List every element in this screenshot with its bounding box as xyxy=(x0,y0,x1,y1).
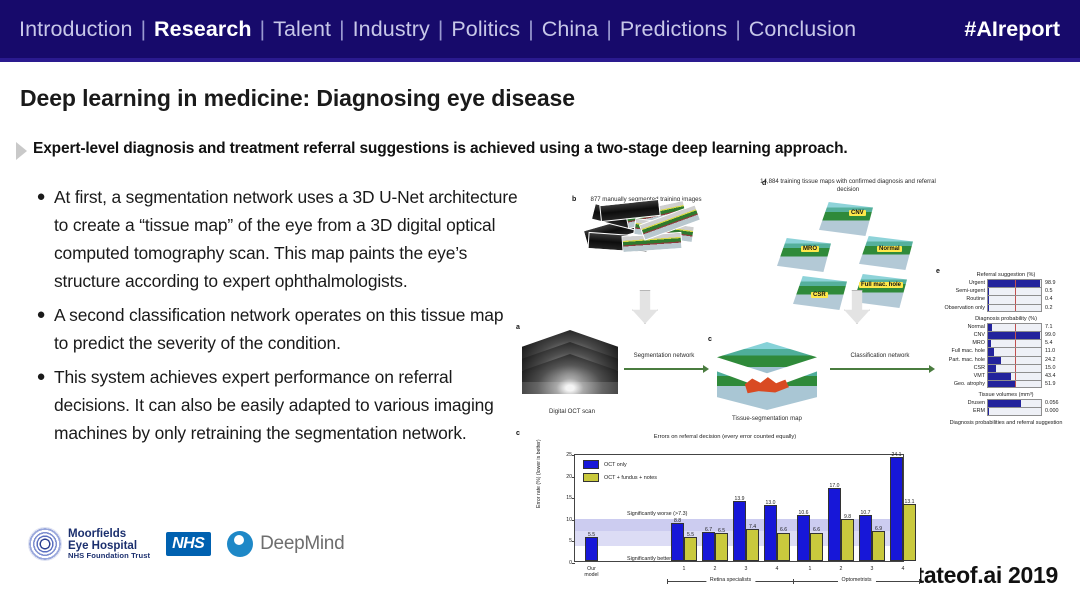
x-axis-tick: 3 xyxy=(871,566,874,572)
y-axis-tick-mark xyxy=(572,520,575,521)
referral-row: Semi-urgent0.5 xyxy=(942,287,1068,295)
moorfields-eye-icon xyxy=(28,527,62,561)
panel-e-footer: Diagnosis probabilities and referral sug… xyxy=(942,420,1070,427)
tissue-volumes-table: Drusen0.056ERM0.000 xyxy=(942,399,1068,415)
diagnosis-label: MRO xyxy=(942,339,987,347)
diagnosis-value: 11.0 xyxy=(1042,347,1066,355)
diagnosis-threshold-marker xyxy=(1015,340,1016,347)
chart-bar-value: 6.6 xyxy=(780,527,787,533)
diagnosis-bar-track xyxy=(987,364,1042,372)
x-axis-tick: 2 xyxy=(840,566,843,572)
panel-a-caption: Digital OCT scan xyxy=(518,408,626,416)
diagnosis-bar-track xyxy=(987,339,1042,347)
chart-bar-value: 10.7 xyxy=(861,510,871,516)
chart-bar-value: 5.5 xyxy=(588,532,595,538)
diagnosis-threshold-marker xyxy=(1015,324,1016,331)
tissue-label-csr: CSR xyxy=(811,292,828,298)
legend-swatch xyxy=(583,473,599,482)
diagnosis-bar xyxy=(988,357,1001,364)
diagnosis-label: Full mac. hole xyxy=(942,347,987,355)
chart-bar xyxy=(671,523,684,561)
nav-separator: | xyxy=(332,18,351,42)
bullet-dot-icon: ● xyxy=(28,301,54,357)
diagnosis-bar-track xyxy=(987,356,1042,364)
legend-entry: OCT + fundus + notes xyxy=(583,473,657,482)
chart-bar-value: 6.5 xyxy=(718,528,725,534)
triangle-bullet-icon xyxy=(16,142,27,160)
y-axis-tick-mark xyxy=(572,455,575,456)
referral-row: Observation only0.2 xyxy=(942,304,1068,312)
tissue-label-full-mac-hole: Full mac. hole xyxy=(859,282,903,288)
diagnosis-bar xyxy=(988,373,1011,380)
diagnosis-value: 99.0 xyxy=(1042,331,1066,339)
deepmind-mark-icon xyxy=(227,531,253,557)
diagnosis-row: Normal7.1 xyxy=(942,323,1068,331)
x-axis-tick: 2 xyxy=(714,566,717,572)
chart-bar-value: 7.4 xyxy=(749,524,756,530)
chart-bar xyxy=(903,504,916,561)
referral-value: 0.2 xyxy=(1042,304,1066,312)
referral-bar-track xyxy=(987,279,1042,287)
diagnosis-label: VMT xyxy=(942,372,987,380)
panel-letter-c-chart: c xyxy=(516,430,520,437)
chart-bar xyxy=(715,533,728,561)
bullet-dot-icon: ● xyxy=(28,183,54,295)
classification-arrow-icon xyxy=(830,368,930,370)
diagnosis-label: Normal xyxy=(942,323,987,331)
chart-bar xyxy=(859,515,872,561)
logo-strip: Moorfields Eye Hospital NHS Foundation T… xyxy=(28,527,344,561)
bullet-item: ●At first, a segmentation network uses a… xyxy=(28,183,520,295)
diagnosis-value: 7.1 xyxy=(1042,323,1066,331)
down-arrow-icon-1 xyxy=(632,290,658,324)
referral-bar-track xyxy=(987,304,1042,312)
subtitle-row: Expert-level diagnosis and treatment ref… xyxy=(16,140,848,160)
diagnosis-value: 51.9 xyxy=(1042,380,1066,388)
referral-table-title: Referral suggestion (%) xyxy=(942,272,1070,278)
chart-bar xyxy=(828,488,841,561)
diagnosis-row: CSR15.0 xyxy=(942,364,1068,372)
nav-item-china[interactable]: China xyxy=(541,17,600,42)
segmentation-arrow-icon xyxy=(624,368,704,370)
volume-bar-track xyxy=(987,407,1042,415)
referral-value: 0.4 xyxy=(1042,295,1066,303)
panel-c-caption: Tissue-segmentation map xyxy=(710,415,824,423)
volume-row: ERM0.000 xyxy=(942,407,1068,415)
diagnosis-row: CNV99.0 xyxy=(942,331,1068,339)
diagnosis-bar xyxy=(988,365,996,372)
diagnosis-label: CSR xyxy=(942,364,987,372)
x-axis-tick: 3 xyxy=(745,566,748,572)
chart-bar-value: 13.1 xyxy=(905,499,915,505)
chart-bar xyxy=(702,532,715,561)
legend-label: OCT only xyxy=(604,462,627,468)
bullet-item: ●A second classification network operate… xyxy=(28,301,520,357)
diagnosis-label: Part. mac. hole xyxy=(942,356,987,364)
referral-bar xyxy=(988,305,989,311)
referral-bar-track xyxy=(987,295,1042,303)
diagnosis-bar xyxy=(988,324,992,331)
referral-threshold-marker xyxy=(1015,288,1016,295)
deepmind-logo: DeepMind xyxy=(227,531,344,557)
y-axis-tick-mark xyxy=(572,498,575,499)
chart-bar xyxy=(890,457,903,561)
chart-bar xyxy=(777,533,790,562)
diagnosis-threshold-marker xyxy=(1015,348,1016,355)
nav-separator: | xyxy=(134,18,153,42)
nav-underline xyxy=(0,58,1080,62)
tissue-segmentation-map xyxy=(717,342,817,414)
x-axis-tick: 1 xyxy=(683,566,686,572)
chart-bar xyxy=(872,531,885,561)
nav-separator: | xyxy=(728,18,747,42)
training-images-stack xyxy=(582,200,707,262)
chart-bar-value: 13.0 xyxy=(766,500,776,506)
legend-swatch xyxy=(583,460,599,469)
nav-hashtag: #AIreport xyxy=(964,17,1060,42)
diagnosis-bar-track xyxy=(987,347,1042,355)
diagnosis-bar-track xyxy=(987,372,1042,380)
digital-oct-scan xyxy=(522,330,622,408)
diagnosis-row: VMT43.4 xyxy=(942,372,1068,380)
research-figure: a b c d e c 877 manually segmented train… xyxy=(512,172,1070,597)
chart-bar-value: 10.6 xyxy=(799,510,809,516)
volume-bar-track xyxy=(987,399,1042,407)
bullet-dot-icon: ● xyxy=(28,363,54,447)
chart-bar-value: 6.7 xyxy=(705,527,712,533)
nav-item-industry[interactable]: Industry xyxy=(352,17,431,42)
volume-value: 0.056 xyxy=(1042,399,1066,407)
chart-bar-value: 8.8 xyxy=(674,518,681,524)
referral-bar-track xyxy=(987,287,1042,295)
referral-row: Routine0.4 xyxy=(942,295,1068,303)
volume-bar xyxy=(988,400,1021,407)
referral-bar xyxy=(988,288,989,295)
chart-bar xyxy=(733,501,746,561)
referral-bar xyxy=(988,296,989,303)
diagnosis-output-panel: Referral suggestion (%) Urgent98.9Semi-u… xyxy=(942,272,1070,462)
moorfields-line3: NHS Foundation Trust xyxy=(68,552,150,560)
legend-entry: OCT only xyxy=(583,460,657,469)
bullet-text: This system achieves expert performance … xyxy=(54,363,520,447)
chart-bar-value: 17.0 xyxy=(830,483,840,489)
diagnosis-value: 43.4 xyxy=(1042,372,1066,380)
x-axis-tick: Ourmodel xyxy=(584,566,598,578)
x-axis-group-label: Retina specialists xyxy=(706,577,755,583)
x-axis-tick: 4 xyxy=(776,566,779,572)
nav-item-politics[interactable]: Politics xyxy=(450,17,521,42)
chart-bar xyxy=(684,537,697,561)
top-navigation-bar: Introduction|Research|Talent|Industry|Po… xyxy=(0,0,1080,58)
panel-letter-c: c xyxy=(708,336,712,343)
diagnosis-value: 15.0 xyxy=(1042,364,1066,372)
chart-bar-value: 24.1 xyxy=(892,452,902,458)
diagnosis-label: CNV xyxy=(942,331,987,339)
nav-item-list: Introduction|Research|Talent|Industry|Po… xyxy=(18,17,964,42)
chart-bar xyxy=(746,529,759,561)
chart-bar xyxy=(585,537,598,561)
diagnosis-threshold-marker xyxy=(1015,357,1016,364)
chart-bar xyxy=(810,533,823,562)
referral-error-chart: Errors on referral decision (every error… xyxy=(530,434,920,594)
moorfields-logo: Moorfields Eye Hospital NHS Foundation T… xyxy=(28,527,150,561)
chart-y-axis-label: Error rate (%) (lower is better) xyxy=(536,439,542,508)
referral-value: 0.5 xyxy=(1042,287,1066,295)
nav-item-research[interactable]: Research xyxy=(153,17,253,42)
tissue-label-normal: Normal xyxy=(877,246,902,252)
diagnosis-label: Geo. atrophy xyxy=(942,380,987,388)
x-axis-tick: 4 xyxy=(902,566,905,572)
x-axis-group-label: Optometrists xyxy=(837,577,875,583)
x-axis-tick: 1 xyxy=(809,566,812,572)
diagnosis-row: Part. mac. hole24.2 xyxy=(942,356,1068,364)
nav-separator: | xyxy=(521,18,540,42)
chart-bar-value: 6.6 xyxy=(813,527,820,533)
referral-label: Routine xyxy=(942,295,987,303)
chart-bar xyxy=(841,519,854,561)
nav-item-talent[interactable]: Talent xyxy=(272,17,332,42)
chart-plot-area: OCT onlyOCT + fundus + notes Significant… xyxy=(574,454,904,562)
diagnosis-value: 24.2 xyxy=(1042,356,1066,364)
referral-label: Observation only xyxy=(942,304,987,312)
diagnosis-bar-track xyxy=(987,380,1042,388)
referral-label: Semi-urgent xyxy=(942,287,987,295)
diagnosis-row: MRO5.4 xyxy=(942,339,1068,347)
chart-title: Errors on referral decision (every error… xyxy=(530,434,920,442)
slide-subtitle: Expert-level diagnosis and treatment ref… xyxy=(33,140,848,158)
diagnosis-threshold-marker xyxy=(1015,381,1016,387)
diagnosis-bar xyxy=(988,340,991,347)
referral-threshold-marker xyxy=(1015,296,1016,303)
nav-separator: | xyxy=(253,18,272,42)
segmentation-network-label: Segmentation network xyxy=(618,352,710,360)
volume-label: Drusen xyxy=(942,399,987,407)
referral-value: 98.9 xyxy=(1042,279,1066,287)
y-axis-tick-mark xyxy=(572,563,575,564)
nav-separator: | xyxy=(431,18,450,42)
volume-value: 0.000 xyxy=(1042,407,1066,415)
diagnosis-bar xyxy=(988,348,994,355)
diagnosis-bar xyxy=(988,381,1016,387)
diagnosis-threshold-marker xyxy=(1015,373,1016,380)
chart-bar-value: 6.9 xyxy=(875,526,882,532)
bullet-list: ●At first, a segmentation network uses a… xyxy=(28,183,520,453)
page-title: Deep learning in medicine: Diagnosing ey… xyxy=(20,85,575,112)
nav-item-predictions[interactable]: Predictions xyxy=(619,17,728,42)
nhs-logo: NHS xyxy=(166,532,211,556)
referral-suggestion-table: Urgent98.9Semi-urgent0.5Routine0.4Observ… xyxy=(942,279,1068,312)
chart-bar xyxy=(764,505,777,561)
diagnosis-table-title: Diagnosis probability (%) xyxy=(942,316,1070,322)
chart-bar xyxy=(797,515,810,561)
referral-label: Urgent xyxy=(942,279,987,287)
legend-label: OCT + fundus + notes xyxy=(604,475,657,481)
diagnosis-probability-table: Normal7.1CNV99.0MRO5.4Full mac. hole11.0… xyxy=(942,323,1068,389)
bullet-text: At first, a segmentation network uses a … xyxy=(54,183,520,295)
moorfields-line1: Moorfields xyxy=(68,528,150,540)
nav-separator: | xyxy=(599,18,618,42)
classification-network-label: Classification network xyxy=(828,352,932,360)
volumes-table-title: Tissue volumes (mm³) xyxy=(942,392,1070,398)
chart-bar-value: 13.9 xyxy=(735,496,745,502)
volume-label: ERM xyxy=(942,407,987,415)
chart-legend: OCT onlyOCT + fundus + notes xyxy=(583,460,657,486)
chart-bar-value: 5.5 xyxy=(687,532,694,538)
diagnosis-value: 5.4 xyxy=(1042,339,1066,347)
referral-row: Urgent98.9 xyxy=(942,279,1068,287)
diagnosis-threshold-marker xyxy=(1015,332,1016,339)
volume-bar xyxy=(988,408,989,414)
tissue-label-mro: MRO xyxy=(801,246,819,252)
panel-letter-b: b xyxy=(572,196,576,203)
deepmind-wordmark: DeepMind xyxy=(260,533,344,555)
nav-item-conclusion[interactable]: Conclusion xyxy=(748,17,857,42)
bullet-item: ●This system achieves expert performance… xyxy=(28,363,520,447)
tissue-label-cnv: CNV xyxy=(849,210,866,216)
diagnosis-threshold-marker xyxy=(1015,365,1016,372)
nav-item-introduction[interactable]: Introduction xyxy=(18,17,134,42)
y-axis-tick-mark xyxy=(572,477,575,478)
diagnosis-bar-track xyxy=(987,323,1042,331)
panel-letter-a: a xyxy=(516,324,520,331)
referral-threshold-marker xyxy=(1015,280,1016,287)
y-axis-tick-mark xyxy=(572,541,575,542)
diagnosis-bar-track xyxy=(987,331,1042,339)
bullet-text: A second classification network operates… xyxy=(54,301,520,357)
band-label: Significantly worse (>7.3) xyxy=(627,511,687,517)
chart-bar-value: 9.8 xyxy=(844,514,851,520)
diagnosis-row: Full mac. hole11.0 xyxy=(942,347,1068,355)
referral-threshold-marker xyxy=(1015,305,1016,311)
diagnosis-row: Geo. atrophy51.9 xyxy=(942,380,1068,388)
volume-row: Drusen0.056 xyxy=(942,399,1068,407)
